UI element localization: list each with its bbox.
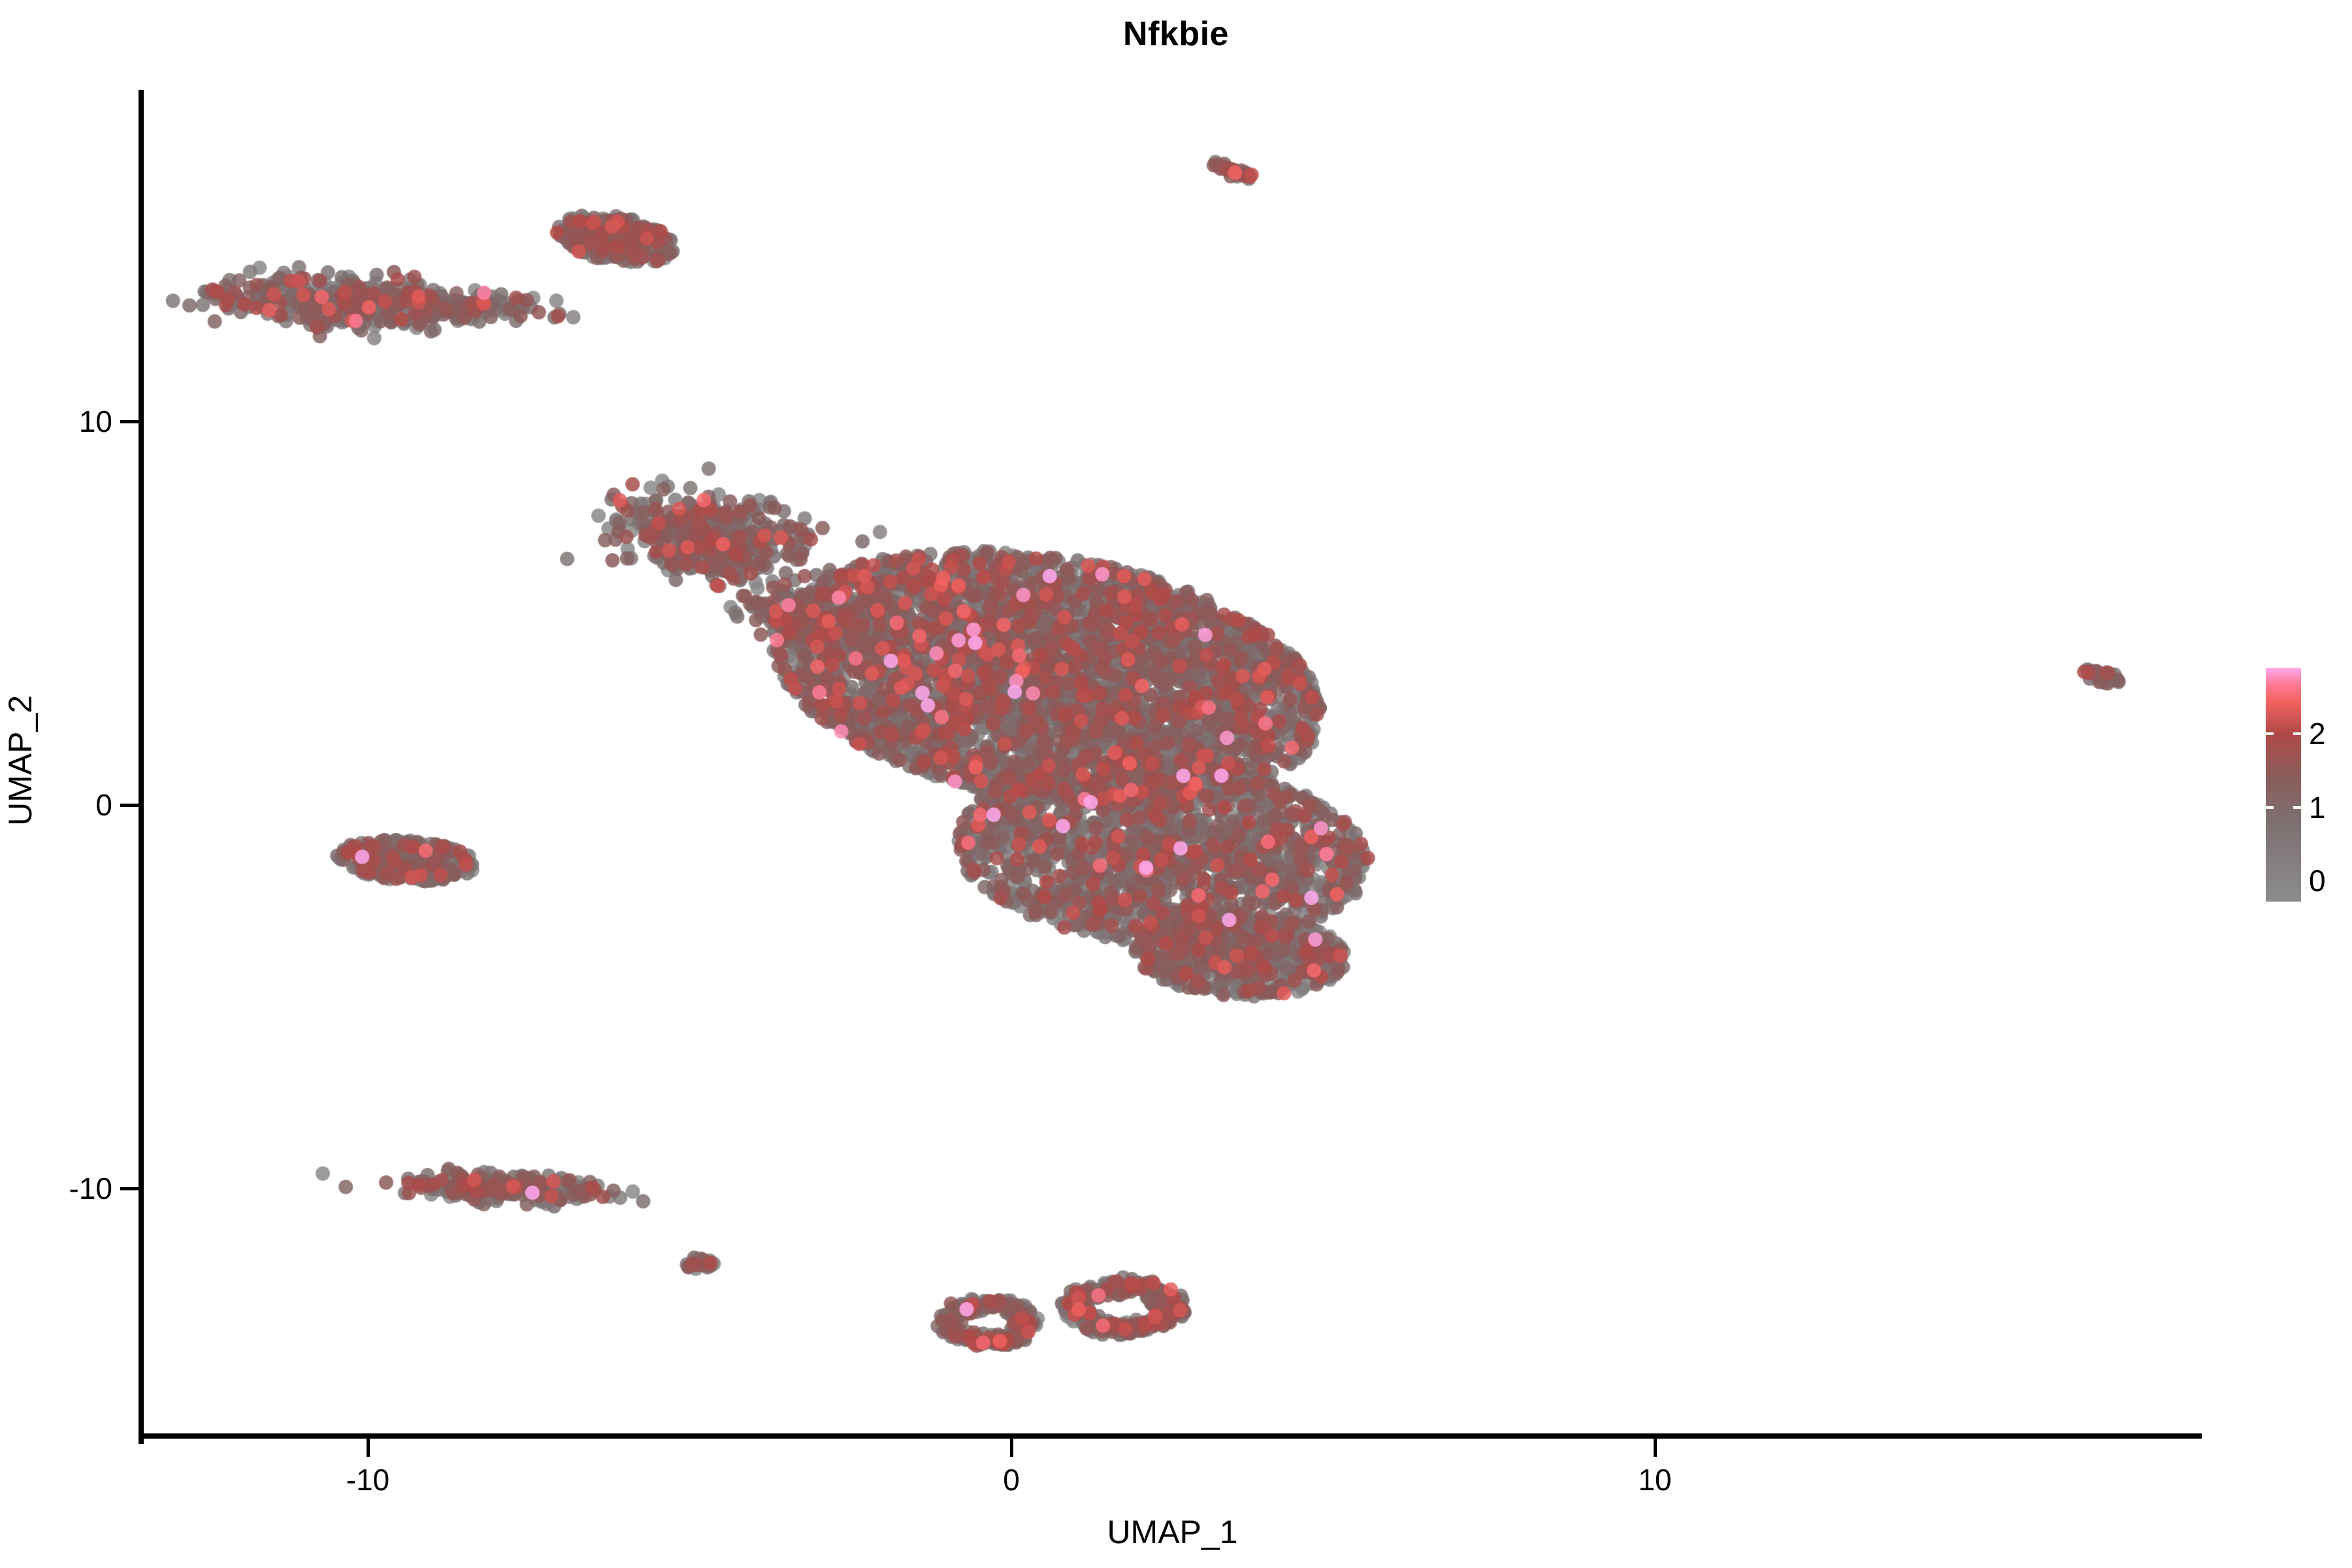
- legend-tick-label: 2: [2309, 716, 2326, 751]
- page-title: Nfkbie: [0, 14, 2352, 54]
- x-tick-mark: [1010, 1439, 1013, 1457]
- color-legend: 012: [2266, 668, 2344, 917]
- legend-tick-mark: [2293, 732, 2301, 735]
- legend-tick-label: 0: [2309, 863, 2326, 898]
- y-tick-mark: [120, 1187, 139, 1190]
- legend-tick-mark: [2266, 806, 2274, 809]
- y-axis-title: UMAP_2: [1, 86, 39, 1435]
- x-tick-label: -10: [346, 1462, 389, 1497]
- x-axis-title: UMAP_1: [143, 1513, 2202, 1551]
- x-tick-mark: [367, 1439, 370, 1457]
- umap-feature-plot: Nfkbie -10010 -10010 UMAP_1 UMAP_2 012: [0, 0, 2352, 1568]
- scatter-points-canvas: [143, 90, 2202, 1439]
- plot-panel: [143, 90, 2202, 1439]
- legend-tick-label: 1: [2309, 790, 2326, 825]
- x-tick-label: 0: [1003, 1462, 1020, 1497]
- x-tick-mark: [1654, 1439, 1657, 1457]
- x-axis-line: [139, 1433, 2202, 1439]
- y-tick-mark: [120, 420, 139, 423]
- x-tick-label: 10: [1638, 1462, 1671, 1497]
- legend-colorbar: [2266, 668, 2301, 902]
- y-tick-mark: [120, 804, 139, 807]
- y-axis-line: [139, 90, 144, 1444]
- legend-tick-mark: [2293, 806, 2301, 809]
- legend-tick-mark: [2266, 732, 2274, 735]
